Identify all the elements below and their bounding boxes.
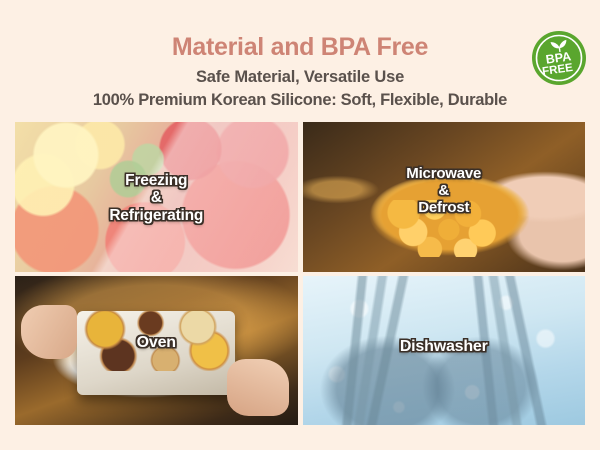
header: Material and BPA Free Safe Material, Ver… xyxy=(0,0,600,118)
panel-freezing-refrigerating[interactable]: Freezing & Refrigerating xyxy=(15,122,298,272)
label-line-2: & xyxy=(151,189,162,206)
product-feature-banner: Material and BPA Free Safe Material, Ver… xyxy=(0,0,600,450)
panel-label-freezing-refrigerating: Freezing & Refrigerating xyxy=(15,172,298,224)
label-line-1: Freezing xyxy=(125,172,187,189)
label-line-1: Dishwasher xyxy=(400,338,488,355)
subtitle-line-2: 100% Premium Korean Silicone: Soft, Flex… xyxy=(0,88,600,111)
label-line-1: Microwave xyxy=(406,165,481,182)
subtitle-line-1: Safe Material, Versatile Use xyxy=(0,62,600,88)
label-line-3: Refrigerating xyxy=(109,207,203,224)
feature-panel-grid: Freezing & Refrigerating Microwave & Def… xyxy=(15,122,585,425)
page-title: Material and BPA Free xyxy=(0,0,600,62)
label-line-3: Defrost xyxy=(418,199,469,216)
label-line-2: & xyxy=(438,182,449,199)
panel-label-dishwasher: Dishwasher xyxy=(303,338,586,356)
panel-oven[interactable]: Oven xyxy=(15,276,298,426)
panel-microwave-defrost[interactable]: Microwave & Defrost xyxy=(303,122,586,272)
bpa-free-badge: BPA FREE xyxy=(531,30,587,86)
hand-right xyxy=(227,359,289,416)
panel-label-microwave-defrost: Microwave & Defrost xyxy=(303,166,586,216)
label-line-1: Oven xyxy=(137,334,176,351)
panel-label-oven: Oven xyxy=(15,334,298,352)
panel-dishwasher[interactable]: Dishwasher xyxy=(303,276,586,426)
